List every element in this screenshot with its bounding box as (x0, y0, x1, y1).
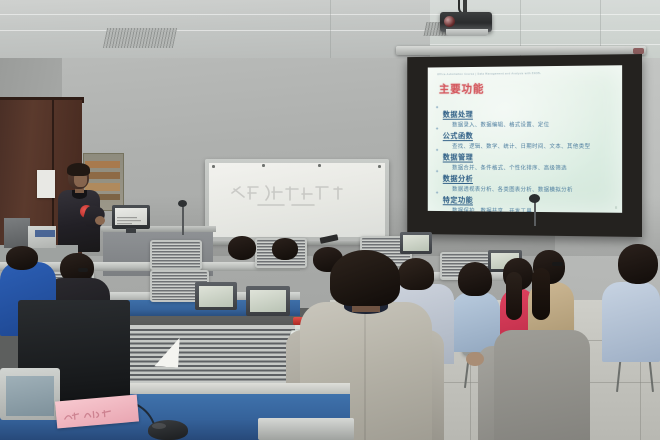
whiteboard-writing (228, 183, 358, 211)
eyeglasses-icon (552, 262, 563, 266)
student-head (272, 238, 298, 260)
foreground-person-head (330, 250, 400, 306)
slide-page-number: 8 (615, 206, 617, 210)
whiteboard-bolt (212, 165, 215, 168)
jacket-seam (364, 312, 366, 440)
projected-slide: Office Automation Course | Data Manageme… (428, 65, 622, 213)
foreground-person-hand (466, 352, 484, 366)
projector-lens-icon (444, 16, 455, 27)
wall-panel-stripe (85, 161, 120, 168)
classroom-photo: Office Automation Course | Data Manageme… (0, 0, 660, 440)
projector-base (446, 29, 488, 36)
keyboard[interactable] (258, 418, 354, 440)
whiteboard-bolt (378, 165, 381, 168)
whiteboard-bolt (318, 164, 321, 167)
microphone-icon (529, 194, 540, 203)
microphone-stem (534, 200, 536, 226)
eyeglasses-icon (78, 268, 88, 272)
student-long-hair (506, 272, 522, 320)
slide-section: 特定功能 数据保护、数据共享、开发工具 (443, 188, 532, 213)
lab-monitor-screen (403, 235, 429, 251)
student-head (458, 262, 492, 296)
wall-notice-paper (37, 170, 55, 198)
student-torso (602, 282, 660, 362)
student-head (618, 244, 658, 284)
projection-screen: Office Automation Course | Data Manageme… (407, 54, 642, 237)
desk-divider (150, 240, 202, 270)
student-head (6, 246, 38, 270)
stacked-papers (35, 230, 55, 237)
lab-monitor-screen (250, 290, 286, 312)
slide-title: 主要功能 (439, 81, 484, 97)
podium-screen-content (117, 211, 143, 220)
whiteboard-ink-svg (228, 183, 358, 211)
presenter-hand (95, 216, 105, 225)
podium-screen-lines (117, 217, 143, 226)
microphone-stem (182, 205, 184, 235)
slide-section-heading: 公式函数 (443, 131, 474, 141)
slide-section-heading: 数据处理 (443, 110, 474, 120)
presenter-hair (67, 163, 90, 176)
student-torso (452, 292, 500, 352)
slide-section-heading: 数据管理 (443, 153, 474, 163)
foreground-monitor-screen (6, 376, 54, 416)
microphone-icon (178, 200, 187, 207)
slide-section-heading: 数据分析 (443, 174, 474, 184)
ceiling-grid-line (330, 0, 331, 60)
foreground-person-jacket (494, 330, 590, 440)
student-head (228, 236, 256, 260)
ceiling-vent-icon (103, 28, 177, 48)
slide-section-heading: 特定功能 (443, 196, 474, 206)
wall-panel-stripe (85, 172, 120, 179)
podium-monitor-stand (126, 228, 136, 233)
ceiling-grid-line (430, 44, 660, 45)
mouse-highlight (152, 423, 166, 429)
lab-monitor-screen (199, 286, 233, 307)
student-long-hair (532, 268, 550, 320)
student-head (398, 258, 434, 290)
whiteboard-bolt (262, 164, 265, 167)
equipment-tower (4, 218, 30, 248)
